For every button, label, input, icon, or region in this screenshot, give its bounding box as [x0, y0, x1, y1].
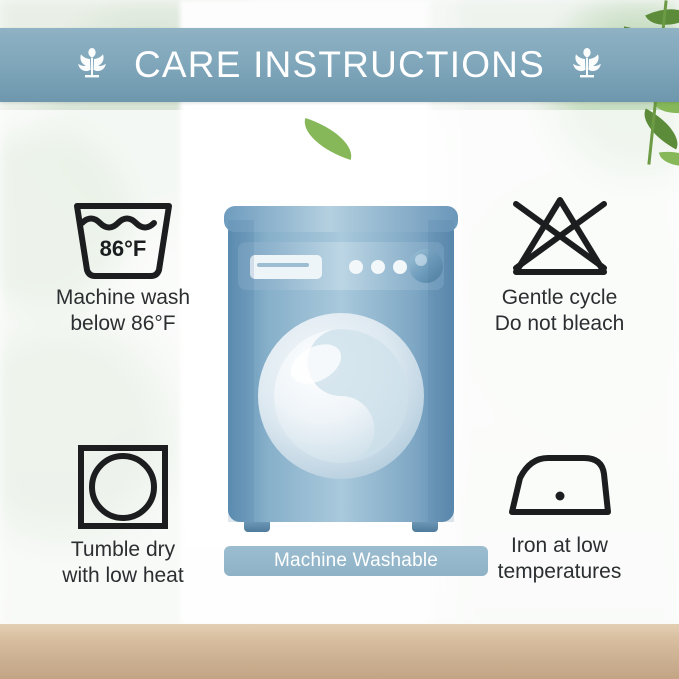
fleur-de-lis-icon	[563, 45, 611, 85]
tumble-dry-icon	[18, 440, 228, 537]
care-label-no-bleach: Gentle cycle Do not bleach	[452, 285, 667, 336]
knob-highlight	[415, 254, 427, 266]
care-label-tumble-dry: Tumble dry with low heat	[18, 537, 228, 588]
iron-icon	[452, 440, 667, 533]
wooden-table-surface	[0, 624, 679, 679]
no-bleach-triangle-icon	[452, 190, 667, 285]
machine-washable-label: Machine Washable	[274, 550, 438, 572]
header-banner: CARE INSTRUCTIONS	[0, 28, 679, 102]
care-symbol-machine-wash: 86°F Machine wash below 86°F	[18, 190, 228, 336]
drawer-handle	[257, 263, 309, 267]
machine-washable-badge: Machine Washable	[224, 546, 488, 576]
care-symbol-no-bleach: Gentle cycle Do not bleach	[452, 190, 667, 336]
indicator-light	[349, 260, 363, 274]
care-label-machine-wash: Machine wash below 86°F	[18, 285, 228, 336]
indicator-light	[371, 260, 385, 274]
indicator-light	[393, 260, 407, 274]
machine-top	[224, 206, 458, 232]
page-title: CARE INSTRUCTIONS	[134, 44, 545, 86]
machine-shadow-right	[428, 220, 454, 522]
wash-tub-icon: 86°F	[18, 190, 228, 285]
washing-machine-illustration	[216, 198, 466, 543]
machine-shadow-left	[228, 220, 254, 522]
wash-temperature-text: 86°F	[100, 236, 147, 261]
care-symbol-tumble-dry: Tumble dry with low heat	[18, 440, 228, 588]
fleur-de-lis-icon	[68, 45, 116, 85]
